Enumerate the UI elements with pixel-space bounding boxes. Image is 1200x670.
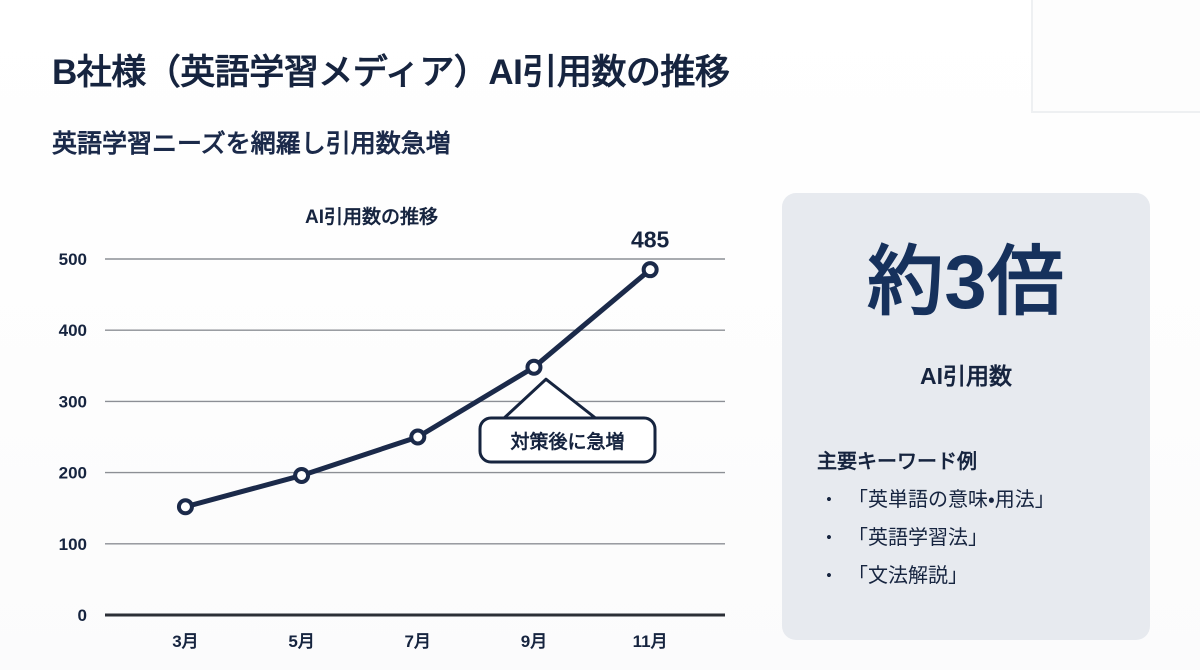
- callout-label: 対策後に急増: [509, 430, 624, 453]
- callout-arrow: [502, 379, 598, 420]
- keyword-label: 「英単語の意味・用法」: [848, 489, 1055, 511]
- page-subtitle: 英語学習ニーズを網羅し引用数急増: [52, 124, 451, 160]
- chart-y-tick-label: 200: [59, 464, 87, 483]
- chart-y-tick-label: 500: [59, 250, 87, 269]
- chart-x-tick-label: 7月: [405, 632, 431, 650]
- summary-panel: 約3倍 AI引用数 主要キーワード例 •「英単語の意味・用法」•「英語学習法」•…: [782, 193, 1150, 640]
- kpi-label: AI引用数: [782, 357, 1150, 391]
- annotation-callout: 対策後に急増: [480, 379, 655, 462]
- bullet-icon: •: [826, 519, 832, 557]
- keywords-list: •「英単語の意味・用法」•「英語学習法」•「文法解説」: [820, 481, 1055, 595]
- chart-data-point[interactable]: [411, 431, 424, 444]
- decorative-corner-frame: [1031, 0, 1200, 113]
- slide-canvas: B社様（英語学習メディア）AI引用数の推移 英語学習ニーズを網羅し引用数急増 A…: [0, 0, 1200, 670]
- chart-y-tick-label: 300: [59, 392, 87, 411]
- keywords-heading: 主要キーワード例: [817, 445, 977, 474]
- chart-data-labels: 485: [631, 227, 670, 253]
- chart-series-line: [185, 270, 650, 507]
- keyword-label: 「英語学習法」: [848, 527, 988, 549]
- chart-x-tick-label: 3月: [172, 632, 198, 650]
- line-chart: AI引用数の推移 0100200300400500 3月5月7月9月11月 48…: [0, 180, 770, 650]
- chart-data-point[interactable]: [179, 500, 192, 513]
- keyword-list-item: •「英語学習法」: [848, 519, 1055, 557]
- chart-y-axis-labels: 0100200300400500: [59, 250, 87, 625]
- keyword-list-item: •「文法解説」: [848, 557, 1055, 595]
- chart-x-tick-label: 9月: [521, 632, 547, 650]
- keyword-label: 「文法解説」: [848, 565, 968, 587]
- chart-plot-svg: 0100200300400500 3月5月7月9月11月 485 対策後に急増: [0, 180, 770, 650]
- chart-data-point[interactable]: [644, 263, 657, 276]
- kpi-value: 約3倍: [782, 245, 1150, 321]
- chart-x-tick-label: 5月: [288, 632, 314, 650]
- chart-data-markers: [179, 263, 657, 513]
- chart-y-tick-label: 400: [59, 321, 87, 340]
- chart-y-tick-label: 100: [59, 535, 87, 554]
- page-title: B社様（英語学習メディア）AI引用数の推移: [52, 44, 729, 95]
- bullet-icon: •: [826, 557, 832, 595]
- chart-point-value-label: 485: [631, 227, 670, 253]
- bullet-icon: •: [826, 481, 832, 519]
- chart-data-point[interactable]: [295, 469, 308, 482]
- chart-y-tick-label: 0: [78, 606, 87, 625]
- keyword-list-item: •「英単語の意味・用法」: [848, 481, 1055, 519]
- chart-x-axis-labels: 3月5月7月9月11月: [172, 632, 667, 650]
- chart-data-point[interactable]: [527, 361, 540, 374]
- chart-x-tick-label: 11月: [633, 632, 668, 650]
